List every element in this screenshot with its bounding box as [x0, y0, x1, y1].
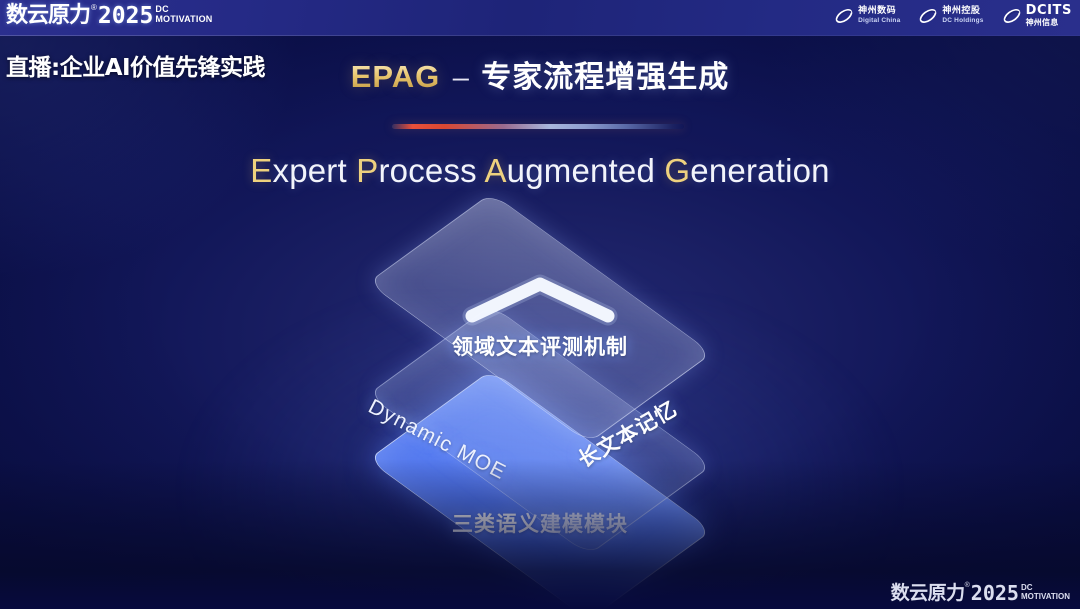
partner-logos: 神州数码 Digital China 神州控股 DC Holdings — [834, 4, 1072, 27]
subtitle-rest-augmented: ugmented — [507, 152, 655, 189]
subtitle-rest-generation: eneration — [690, 152, 829, 189]
title-divider — [392, 124, 684, 129]
brand-dc-label: DC — [155, 5, 212, 14]
subtitle-initial-e: E — [250, 152, 272, 189]
subtitle-expansion: Expert Process Augmented Generation — [0, 152, 1080, 190]
partner-name-en: DC Holdings — [942, 18, 983, 25]
watermark-logo: 数云原力 ® 2025 DC MOTIVATION — [891, 581, 1070, 605]
partner-name-cn: 神州信息 — [1026, 19, 1072, 27]
partner-logo-dcits: DCITS 神州信息 — [1002, 4, 1072, 27]
brand-dc-motivation: DC MOTIVATION — [155, 5, 212, 24]
swirl-icon — [1002, 6, 1022, 26]
subtitle-initial-p: P — [356, 152, 378, 189]
brand-motivation-label: MOTIVATION — [155, 14, 212, 24]
slide-canvas: 数云原力 ® 2025 DC MOTIVATION 神州数码 Digital C… — [0, 0, 1080, 609]
title-chinese: 专家流程增强生成 — [481, 60, 729, 95]
subtitle-initial-a: A — [484, 152, 506, 189]
swirl-icon — [918, 6, 938, 26]
page-title: EPAG – 专家流程增强生成 — [0, 52, 1080, 96]
header-bar: 数云原力 ® 2025 DC MOTIVATION 神州数码 Digital C… — [0, 0, 1080, 36]
partner-logo-dc-holdings: 神州控股 DC Holdings — [918, 6, 983, 26]
partner-name-cn: 神州数码 — [858, 7, 900, 16]
partner-logo-digital-china: 神州数码 Digital China — [834, 6, 900, 26]
subtitle-rest-process: rocess — [378, 152, 476, 189]
watermark-dc-motivation: DC MOTIVATION — [1021, 584, 1070, 601]
watermark-motivation-label: MOTIVATION — [1021, 592, 1070, 601]
watermark-dc-label: DC — [1021, 584, 1070, 592]
brand-name-cn: 数云原力 — [6, 2, 90, 30]
partner-text: 神州数码 Digital China — [858, 7, 900, 25]
watermark-name-cn: 数云原力 — [891, 581, 965, 605]
partner-name-cn: 神州控股 — [942, 7, 983, 16]
partner-name-en: Digital China — [858, 18, 900, 25]
partner-name-en: DCITS — [1026, 4, 1072, 17]
swirl-icon — [834, 6, 854, 26]
watermark-year: 2025 — [971, 581, 1019, 605]
brand-registered-mark: ® — [91, 2, 97, 14]
subtitle-initial-g: G — [664, 152, 690, 189]
chevron-up-icon — [460, 272, 620, 326]
brand-logo: 数云原力 ® 2025 DC MOTIVATION — [6, 2, 212, 32]
watermark-registered-mark: ® — [965, 581, 970, 591]
subtitle-rest-expert: xpert — [273, 152, 347, 189]
title-dash: – — [453, 62, 469, 94]
title-acronym: EPAG — [351, 59, 441, 94]
brand-year: 2025 — [98, 2, 153, 30]
partner-text: DCITS 神州信息 — [1026, 4, 1072, 27]
partner-text: 神州控股 DC Holdings — [942, 7, 983, 25]
